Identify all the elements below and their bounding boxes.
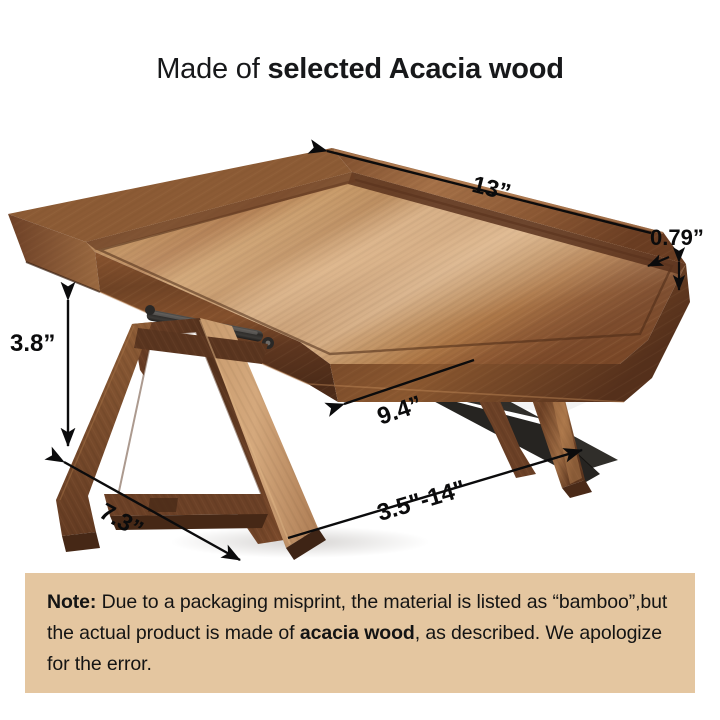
title-bold-part: selected Acacia wood bbox=[267, 53, 563, 85]
title-regular-part: Made of bbox=[156, 53, 267, 85]
dimension-3-8-inch: 3.8” bbox=[10, 330, 55, 358]
note-lead-label: Note: bbox=[47, 591, 96, 613]
note-bold-acacia-wood: acacia wood bbox=[300, 622, 415, 644]
dimension-0-79-inch: 0.79” bbox=[650, 225, 704, 251]
note-text: Note: Due to a packaging misprint, the m… bbox=[47, 587, 673, 680]
note-box: Note: Due to a packaging misprint, the m… bbox=[25, 573, 695, 693]
lap-tray-drawing bbox=[0, 96, 720, 566]
tray-body bbox=[8, 148, 690, 402]
infographic-canvas: Made of selected Acacia wood bbox=[0, 0, 720, 720]
page-title: Made of selected Acacia wood bbox=[0, 50, 720, 88]
product-illustration bbox=[0, 96, 720, 566]
